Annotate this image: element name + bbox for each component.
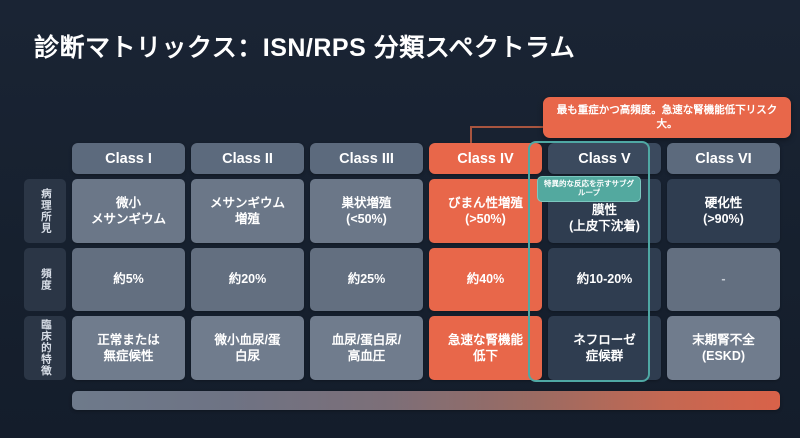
callout-tooltip: 最も重症かつ高頻度。急速な腎機能低下リスク大。	[543, 97, 791, 138]
column-header-class-v[interactable]: Class V	[548, 143, 661, 174]
row-label-pathology: 病理所見	[24, 179, 66, 243]
class-v-subgroup-badge: 特異的な反応を示すサブグループ	[537, 176, 641, 202]
cell-pathology-class-iv: びまん性増殖(>50%)	[429, 179, 542, 243]
cell-clinical-class-i: 正常または無症候性	[72, 316, 185, 380]
cell-clinical-class-ii: 微小血尿/蛋白尿	[191, 316, 304, 380]
cell-pathology-class-ii: メサンギウム増殖	[191, 179, 304, 243]
row-label-frequency: 頻度	[24, 248, 66, 312]
column-header-class-iii[interactable]: Class III	[310, 143, 423, 174]
severity-gradient-bar	[72, 391, 780, 410]
cell-frequency-class-iii: 約25%	[310, 248, 423, 312]
cell-clinical-class-vi: 末期腎不全(ESKD)	[667, 316, 780, 380]
cell-clinical-class-iv: 急速な腎機能低下	[429, 316, 542, 380]
column-header-class-iv[interactable]: Class IV	[429, 143, 542, 174]
page-title: 診断マトリックス：ISN/RPS 分類スペクトラム	[34, 28, 575, 64]
row-label-clinical: 臨床的特徴	[24, 316, 66, 380]
cell-pathology-class-iii: 巣状増殖(<50%)	[310, 179, 423, 243]
cell-clinical-class-iii: 血尿/蛋白尿/高血圧	[310, 316, 423, 380]
cell-pathology-class-vi: 硬化性(>90%)	[667, 179, 780, 243]
cell-frequency-class-vi: -	[667, 248, 780, 312]
callout-connector-horizontal	[470, 126, 544, 128]
column-header-class-i[interactable]: Class I	[72, 143, 185, 174]
slide-canvas: 診断マトリックス：ISN/RPS 分類スペクトラム 最も重症かつ高頻度。急速な腎…	[0, 0, 800, 438]
cell-frequency-class-ii: 約20%	[191, 248, 304, 312]
cell-frequency-class-iv: 約40%	[429, 248, 542, 312]
cell-clinical-class-v: ネフローゼ症候群	[548, 316, 661, 380]
matrix-corner-spacer	[24, 143, 66, 174]
cell-pathology-class-i: 微小メサンギウム	[72, 179, 185, 243]
diagnostic-matrix: Class I Class II Class III Class IV Clas…	[24, 143, 780, 380]
column-header-class-ii[interactable]: Class II	[191, 143, 304, 174]
column-header-class-vi[interactable]: Class VI	[667, 143, 780, 174]
cell-frequency-class-i: 約5%	[72, 248, 185, 312]
cell-frequency-class-v: 約10-20%	[548, 248, 661, 312]
